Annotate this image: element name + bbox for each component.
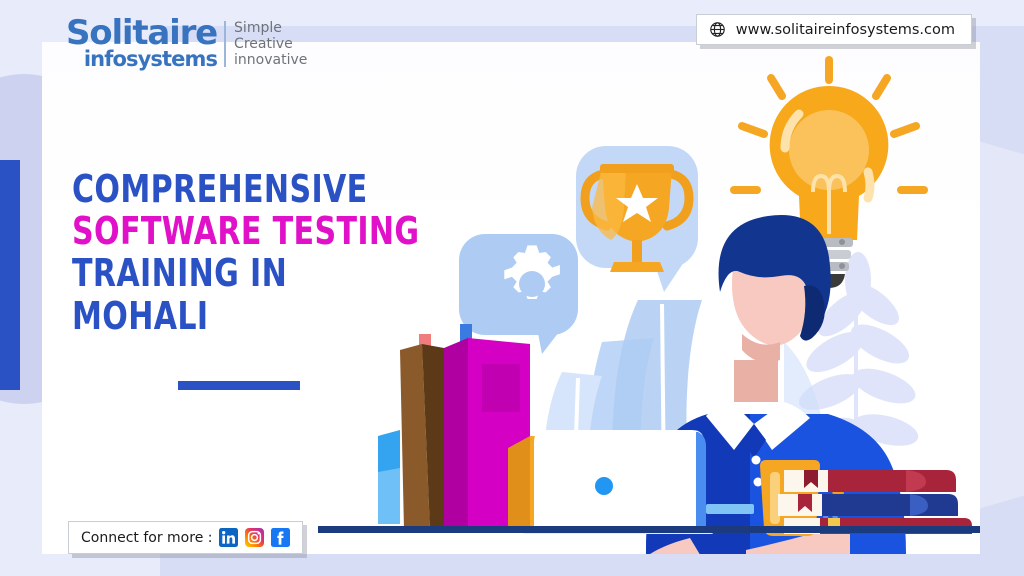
headline-underline [178,381,300,390]
trophy-speech-bubble [576,146,698,292]
globe-icon [709,21,726,38]
desk-line [318,526,980,533]
logo-secondary-text: infosystems [84,49,217,70]
headline-line-4: MOHALI [72,295,419,337]
laptop-icon [522,430,714,534]
logo-divider [224,21,226,67]
gear-speech-bubble [459,234,578,354]
headline-line-1: COMPREHENSIVE [72,168,419,210]
website-url-bar[interactable]: www.solitaireinfosystems.com [696,14,972,45]
flat-books-stack [778,470,972,534]
logo-primary-text: Solitaire [66,18,217,49]
tagline-line-2: Creative [234,36,307,52]
headline-line-3: TRAINING IN [72,252,419,294]
brand-logo[interactable]: Solitaire infosystems Simple Creative in… [66,18,307,70]
tagline-line-1: Simple [234,20,307,36]
facebook-icon[interactable] [271,528,290,547]
tagline-line-3: innovative [234,52,307,68]
linkedin-icon[interactable] [219,528,238,547]
logo-wordmark: Solitaire infosystems [66,18,217,70]
website-url-text: www.solitaireinfosystems.com [736,22,955,38]
headline-line-2: SOFTWARE TESTING [72,210,419,252]
connect-bar[interactable]: Connect for more : [68,521,303,554]
instagram-icon[interactable] [245,528,264,547]
background-accent-bar [0,160,20,390]
connect-label: Connect for more : [81,530,212,546]
logo-tagline: Simple Creative innovative [234,20,307,69]
page-title: COMPREHENSIVE SOFTWARE TESTING TRAINING … [72,168,467,337]
